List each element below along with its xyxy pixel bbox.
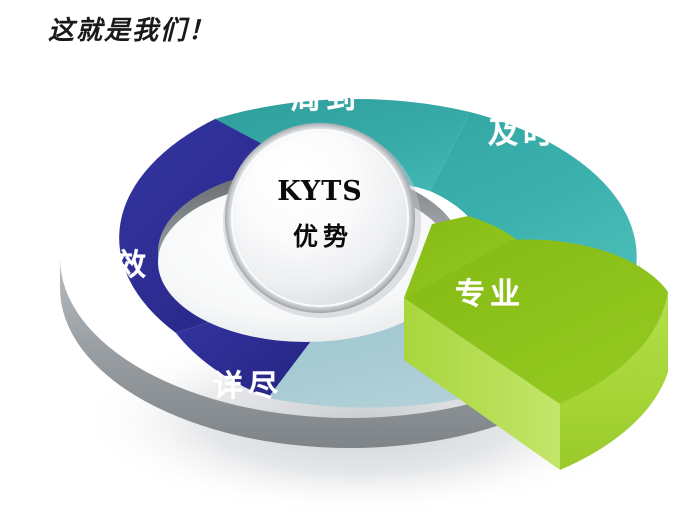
label-gaoxiao: 高效 [81,248,151,283]
infographic-canvas: 这就是我们！ [0,0,700,525]
label-zhoudao: 周到 [291,81,361,116]
page-title: 这就是我们！ [48,10,216,47]
label-xiangjin: 详尽 [213,369,283,404]
label-jishi: 及时 [488,116,558,151]
center-brand: KYTS [277,176,363,207]
center-subtitle: 优势 [293,222,353,251]
donut-chart: KYTS 优势 周到 及时 高效 详尽 专业 [0,0,700,525]
label-zhuanye: 专业 [455,277,525,312]
